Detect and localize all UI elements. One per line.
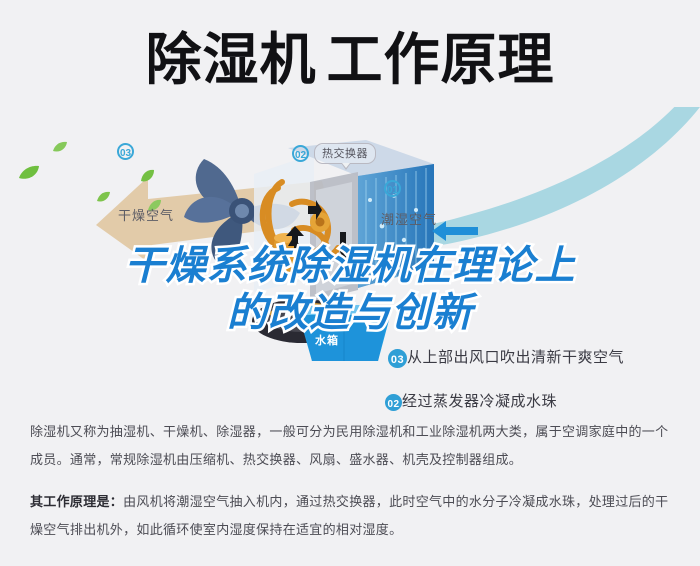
body-paragraph-1: 除湿机又称为抽湿机、干燥机、除湿器，一般可分为民用除湿机和工业除湿机两大类，属于…	[30, 418, 675, 474]
leaf-icon	[18, 165, 40, 181]
callout-02-bubble-label: 热交换器	[314, 143, 376, 164]
body-paragraph-2-text: 由风机将潮湿空气抽入机内，通过热交换器，此时空气中的水分子冷凝成水珠，处理过后的…	[30, 494, 668, 537]
callout-badge-03: 03	[117, 143, 134, 160]
step-badge-03: 03	[388, 349, 407, 368]
step-line-02: 02经过蒸发器冷凝成水珠	[385, 390, 557, 411]
page-title-part2: 工作原理	[327, 28, 555, 91]
step-badge-02: 02	[385, 394, 402, 411]
water-tank-label: 水箱	[315, 332, 339, 348]
callout-01-right: 01	[384, 180, 401, 198]
leaf-icon	[96, 191, 111, 203]
step-text-03: 从上部出风口吹出清新干爽空气	[407, 349, 624, 366]
dehumidifier-diagram: 水箱 03 干燥空气 02热交换器 01 潮湿空气 02经过蒸发器冷凝成水珠 0…	[0, 105, 700, 405]
body-paragraph-2: 其工作原理是：由风机将潮湿空气抽入机内，通过热交换器，此时空气中的水分子冷凝成水…	[30, 488, 675, 544]
body-paragraph-2-label: 其工作原理是：	[30, 494, 123, 509]
page-title-part1: 除湿机	[146, 28, 317, 91]
step-text-02: 经过蒸发器冷凝成水珠	[402, 393, 557, 410]
leaf-icon	[52, 141, 68, 153]
leaf-icon	[139, 169, 155, 183]
water-tank-icon	[292, 301, 397, 369]
article-body: 除湿机又称为抽湿机、干燥机、除湿器，一般可分为民用除湿机和工业除湿机两大类，属于…	[30, 418, 675, 558]
infographic-page: 除湿机工作原理	[0, 0, 700, 566]
callout-01-right-label: 潮湿空气	[381, 209, 437, 228]
callout-03-left-label: 干燥空气	[118, 205, 174, 224]
callout-03-left: 03	[117, 143, 134, 161]
step-line-03: 03从上部出风口吹出清新干爽空气	[388, 346, 624, 368]
air-intake-arrow-icon	[432, 221, 478, 241]
callout-02-top: 02热交换器	[292, 143, 376, 164]
callout-badge-02: 02	[292, 145, 309, 162]
page-title: 除湿机工作原理	[0, 28, 700, 92]
callout-badge-01: 01	[384, 180, 401, 197]
